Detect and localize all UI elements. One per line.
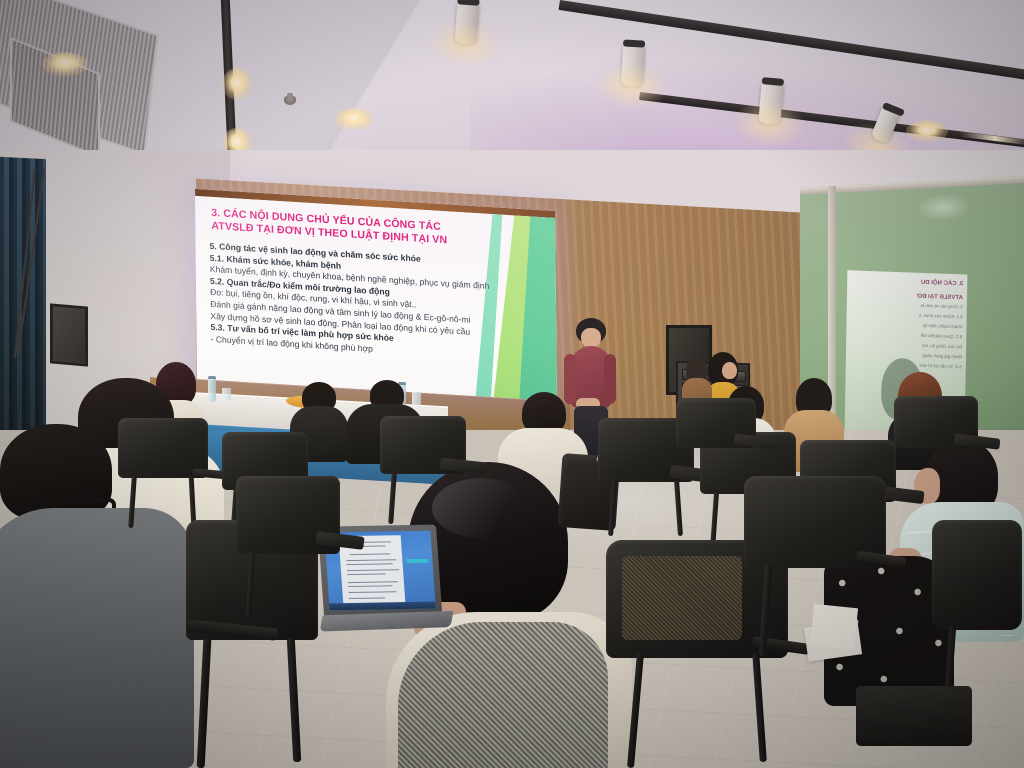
- presenter-arm-right: [604, 354, 616, 404]
- slide-content: 3. CÁC NỘI DUNG CHỦ YẾU CỦA CÔNG TÁC ATV…: [195, 196, 557, 401]
- recessed-downlight-icon: [222, 68, 252, 100]
- chair[interactable]: [676, 398, 756, 474]
- glass-sign-reflection: [916, 193, 970, 222]
- attendee-tweed-vest-garment: [398, 622, 608, 768]
- attendee-blazer: [0, 508, 194, 768]
- sprinkler-head-icon: [284, 96, 296, 105]
- chair[interactable]: [380, 416, 466, 526]
- presenter-face: [581, 328, 601, 348]
- document-selection-highlight: [406, 559, 428, 563]
- recessed-downlight-icon: [334, 108, 374, 130]
- chair[interactable]: [236, 476, 346, 616]
- spotlight-can-icon: [621, 43, 645, 86]
- chair[interactable]: [856, 686, 976, 768]
- paper-on-floor: [810, 604, 858, 650]
- conference-room-scene: 3. CÁC NỘI DUNG CHỦ YẾU CỦA CÔNG TÁC ATV…: [0, 0, 1024, 768]
- projection-screen: 3. CÁC NỘI DUNG CHỦ YẾU CỦA CÔNG TÁC ATV…: [195, 189, 557, 401]
- spotlight-can-icon: [758, 81, 784, 125]
- wall-speaker: [50, 303, 88, 366]
- slide-body: 5. Công tác vệ sinh lao động và chăm sóc…: [210, 241, 511, 364]
- chair[interactable]: [118, 418, 208, 528]
- spotlight-can-icon: [455, 1, 480, 44]
- chair[interactable]: [894, 396, 978, 476]
- recessed-downlight-icon: [42, 52, 88, 76]
- attendee-face: [722, 362, 737, 379]
